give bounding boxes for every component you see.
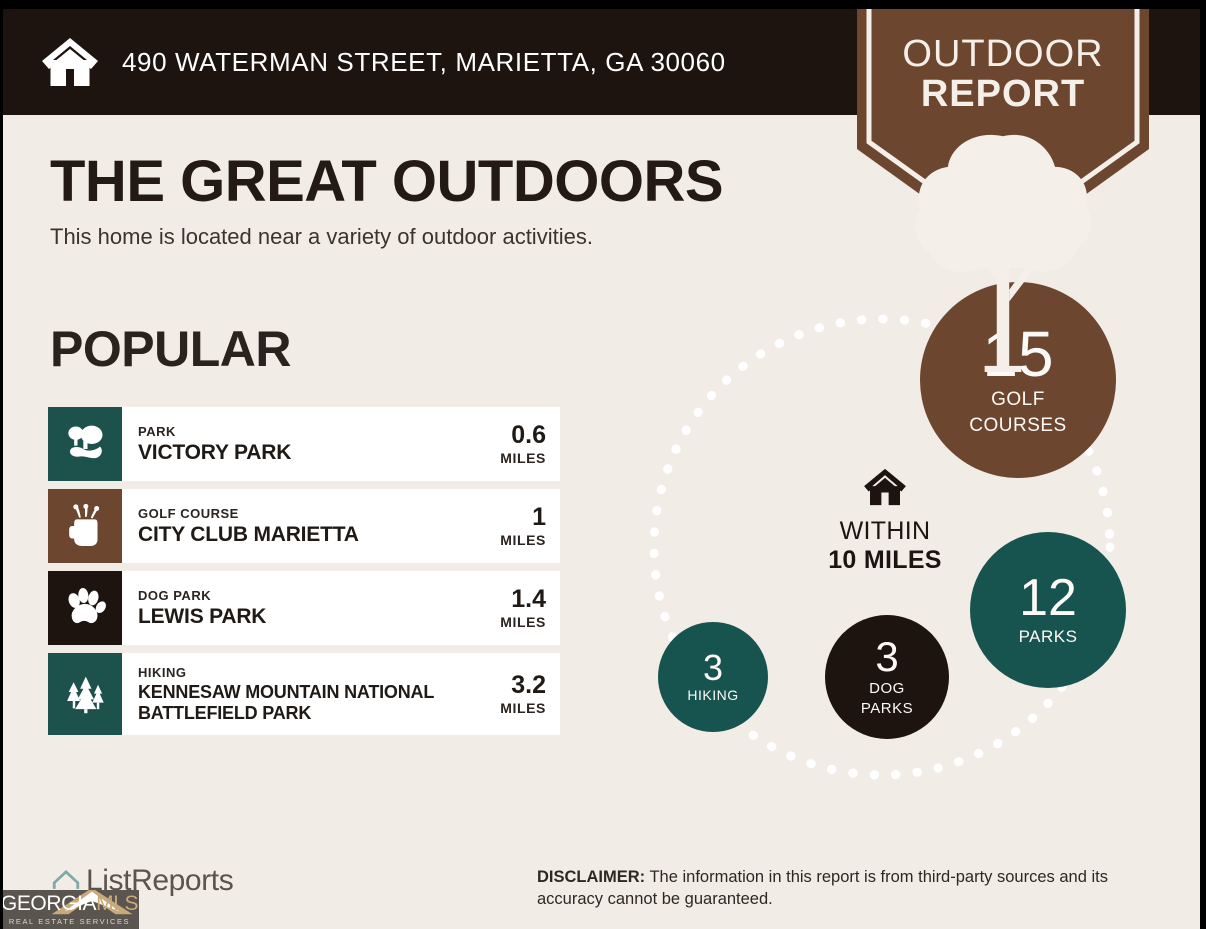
watermark-part-2: MLS xyxy=(96,892,138,915)
list-item-name: VICTORY PARK xyxy=(138,441,291,464)
list-item-name: CITY CLUB MARIETTA xyxy=(138,523,359,546)
bubble-value: 3 xyxy=(703,651,723,685)
list-item-distance: 0.6 MILES xyxy=(490,423,546,466)
bubble-label-line-1: HIKING xyxy=(687,688,738,703)
distance-unit: MILES xyxy=(500,700,546,716)
disclaimer-label: DISCLAIMER: xyxy=(537,868,645,886)
bubble-hiking: 3 HIKING xyxy=(658,622,768,732)
bubble-label-line-1: DOG xyxy=(869,681,905,697)
frame-edge-top xyxy=(0,0,1206,9)
bubble-parks: 12 PARKS xyxy=(970,532,1126,688)
georgia-mls-watermark: GEORGIAMLS REAL ESTATE SERVICES xyxy=(0,890,139,929)
list-item-category: PARK xyxy=(138,424,291,440)
bubble-label-line-1: PARKS xyxy=(1019,628,1078,646)
bubble-label-line-2: COURSES xyxy=(969,416,1066,436)
paw-icon xyxy=(48,571,122,645)
home-icon xyxy=(800,467,970,512)
park-icon xyxy=(48,407,122,481)
watermark-wordmark: GEORGIAMLS xyxy=(1,893,138,914)
list-item[interactable]: DOG PARK LEWIS PARK 1.4 MILES xyxy=(48,571,560,645)
list-item-category: HIKING xyxy=(138,665,490,681)
page-title: THE GREAT OUTDOORS xyxy=(50,148,723,215)
list-item-category: GOLF COURSE xyxy=(138,506,359,522)
center-line-1: WITHIN xyxy=(800,518,970,546)
list-item-name: LEWIS PARK xyxy=(138,605,266,628)
frame-edge-left xyxy=(0,0,3,929)
disclaimer-text: DISCLAIMER: The information in this repo… xyxy=(537,866,1162,911)
badge-title: OUTDOOR REPORT xyxy=(857,35,1149,113)
page-subtitle: This home is located near a variety of o… xyxy=(50,224,593,250)
frame-edge-right xyxy=(1200,0,1206,929)
tree-icon xyxy=(857,127,1149,372)
property-address: 490 WATERMAN STREET, MARIETTA, GA 30060 xyxy=(122,47,726,78)
home-icon xyxy=(40,36,100,88)
popular-list: PARK VICTORY PARK 0.6 MILES xyxy=(48,407,560,743)
distance-value: 1.4 xyxy=(500,587,546,612)
bubble-dog-parks: 3 DOG PARKS xyxy=(825,615,949,739)
list-item-distance: 1 MILES xyxy=(490,505,546,548)
list-item[interactable]: PARK VICTORY PARK 0.6 MILES xyxy=(48,407,560,481)
bubble-label-line-1: GOLF xyxy=(991,390,1045,410)
list-item-distance: 1.4 MILES xyxy=(490,587,546,630)
outdoor-report-badge: OUTDOOR REPORT xyxy=(857,9,1149,254)
distance-value: 3.2 xyxy=(500,673,546,698)
list-item[interactable]: GOLF COURSE CITY CLUB MARIETTA 1 MILES xyxy=(48,489,560,563)
bubble-label-line-2: PARKS xyxy=(861,701,913,717)
list-item-name: KENNESAW MOUNTAIN NATIONAL BATTLEFIELD P… xyxy=(138,682,490,722)
distance-value: 0.6 xyxy=(500,423,546,448)
list-item-distance: 3.2 MILES xyxy=(490,673,546,716)
bubble-value: 3 xyxy=(875,637,898,677)
list-item-category: DOG PARK xyxy=(138,588,266,604)
bubble-value: 12 xyxy=(1019,574,1077,623)
center-line-2: 10 MILES xyxy=(800,546,970,575)
pine-trees-icon xyxy=(48,653,122,735)
badge-line-1: OUTDOOR xyxy=(857,35,1149,73)
golf-bag-icon xyxy=(48,489,122,563)
watermark-tagline: REAL ESTATE SERVICES xyxy=(9,917,130,926)
distance-unit: MILES xyxy=(500,450,546,466)
watermark-part-1: GEORGIA xyxy=(1,892,96,915)
distance-value: 1 xyxy=(500,505,546,530)
distance-unit: MILES xyxy=(500,614,546,630)
badge-line-2: REPORT xyxy=(857,75,1149,113)
outdoor-report-page: 490 WATERMAN STREET, MARIETTA, GA 30060 … xyxy=(0,0,1206,929)
section-title-popular: POPULAR xyxy=(50,320,291,378)
distance-unit: MILES xyxy=(500,532,546,548)
chart-center-label: WITHIN 10 MILES xyxy=(800,467,970,574)
list-item[interactable]: HIKING KENNESAW MOUNTAIN NATIONAL BATTLE… xyxy=(48,653,560,735)
